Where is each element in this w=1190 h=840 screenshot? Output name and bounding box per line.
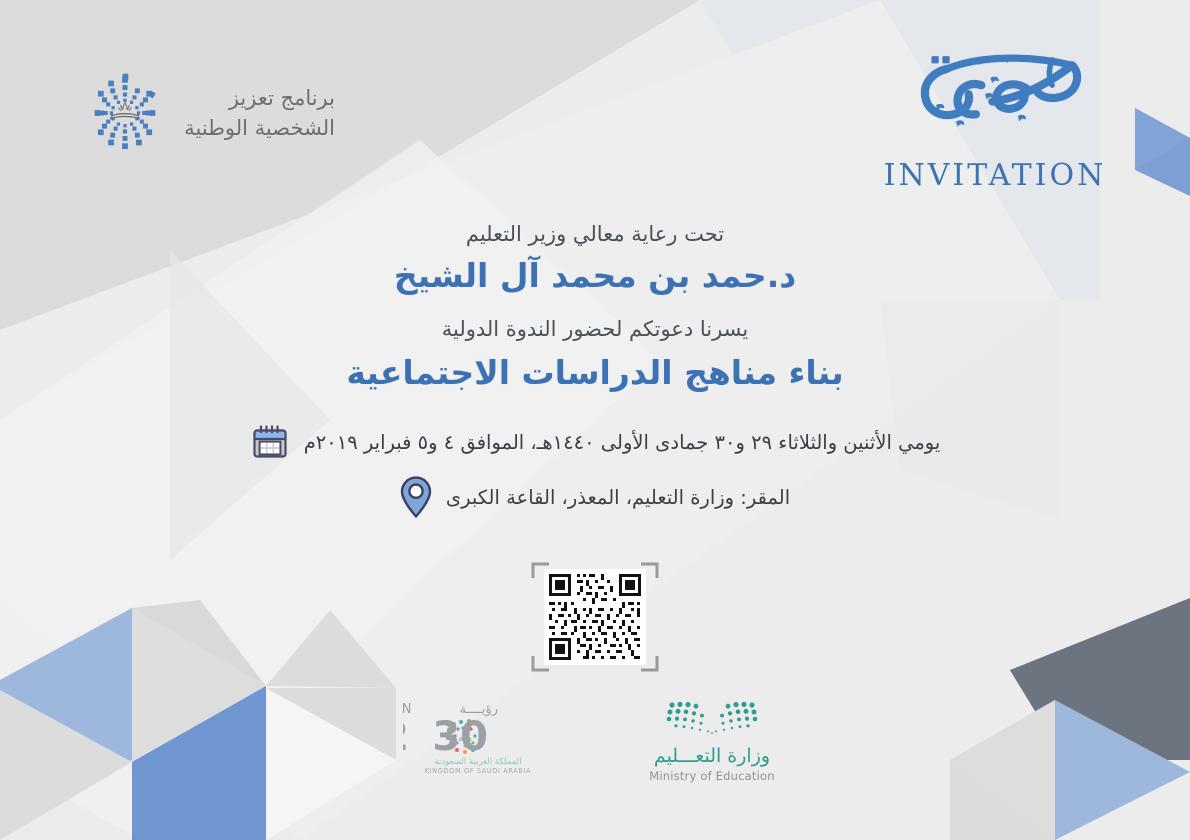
triangle-bl-11 — [266, 610, 396, 688]
venue-row: المقر: وزارة التعليم، المعذر، القاعة الك… — [0, 476, 1190, 518]
date-row: يومي الأثنين والثلاثاء ٢٩ و٣٠ جمادى الأو… — [0, 422, 1190, 462]
moe-arabic-label: وزارة التعـــليم — [632, 746, 792, 767]
program-logo-text: برنامج تعزيز الشخصية الوطنية — [184, 83, 335, 144]
location-pin-icon — [400, 476, 432, 518]
qr-code[interactable] — [531, 562, 659, 672]
footer-logos: وزارة التعـــليم Ministry of Education V… — [0, 700, 1190, 783]
patronage-line: تحت رعاية معالي وزير التعليم — [0, 222, 1190, 246]
calendar-icon — [250, 422, 290, 462]
venue-text: المقر: وزارة التعليم، المعذر، القاعة الك… — [446, 486, 790, 509]
kingdom-arabic-label: المملكة العربية السعودية — [434, 757, 521, 767]
vision-number-right: 30 — [432, 714, 488, 760]
triangle-top-right-blue-b — [1135, 108, 1190, 170]
ministry-of-education-logo: وزارة التعـــليم Ministry of Education — [632, 700, 792, 783]
invitation-english-label: INVITATION — [880, 158, 1110, 193]
invitation-mark: INVITATION — [880, 38, 1110, 193]
date-text: يومي الأثنين والثلاثاء ٢٩ و٣٠ جمادى الأو… — [304, 431, 941, 454]
vision2030-mark-icon: VISION رؤيــــة 2 — [403, 700, 553, 778]
saudi-emblem-icon — [110, 102, 140, 120]
moe-english-label: Ministry of Education — [632, 769, 792, 783]
program-logo: برنامج تعزيز الشخصية الوطنية — [84, 72, 335, 154]
triangle-bl-12 — [132, 600, 266, 686]
invitation-arabic-calligraphy-icon — [890, 38, 1100, 156]
program-logo-line2: الشخصية الوطنية — [184, 113, 335, 143]
kingdom-english-label: KINGDOM OF SAUDI ARABIA — [425, 767, 531, 775]
qr-code-graphic[interactable] — [531, 562, 659, 672]
vision-2030-logo: VISION رؤيــــة 2 — [398, 700, 558, 778]
moe-dotted-wing-icon — [652, 700, 772, 742]
invitation-card: برنامج تعزيز الشخصية الوطنية — [0, 0, 1190, 840]
star-mandala-saudi-emblem-icon — [84, 72, 166, 154]
event-title: بناء مناهج الدراسات الاجتماعية — [0, 353, 1190, 392]
intro-line: يسرنا دعوتكم لحضور الندوة الدولية — [0, 317, 1190, 341]
minister-name: د.حمد بن محمد آل الشيخ — [0, 256, 1190, 295]
vision-number-left: 2 — [403, 714, 409, 760]
invitation-content: تحت رعاية معالي وزير التعليم د.حمد بن مح… — [0, 222, 1190, 532]
program-logo-line1: برنامج تعزيز — [184, 83, 335, 113]
triangle-top-right-blue-a — [1135, 108, 1190, 196]
